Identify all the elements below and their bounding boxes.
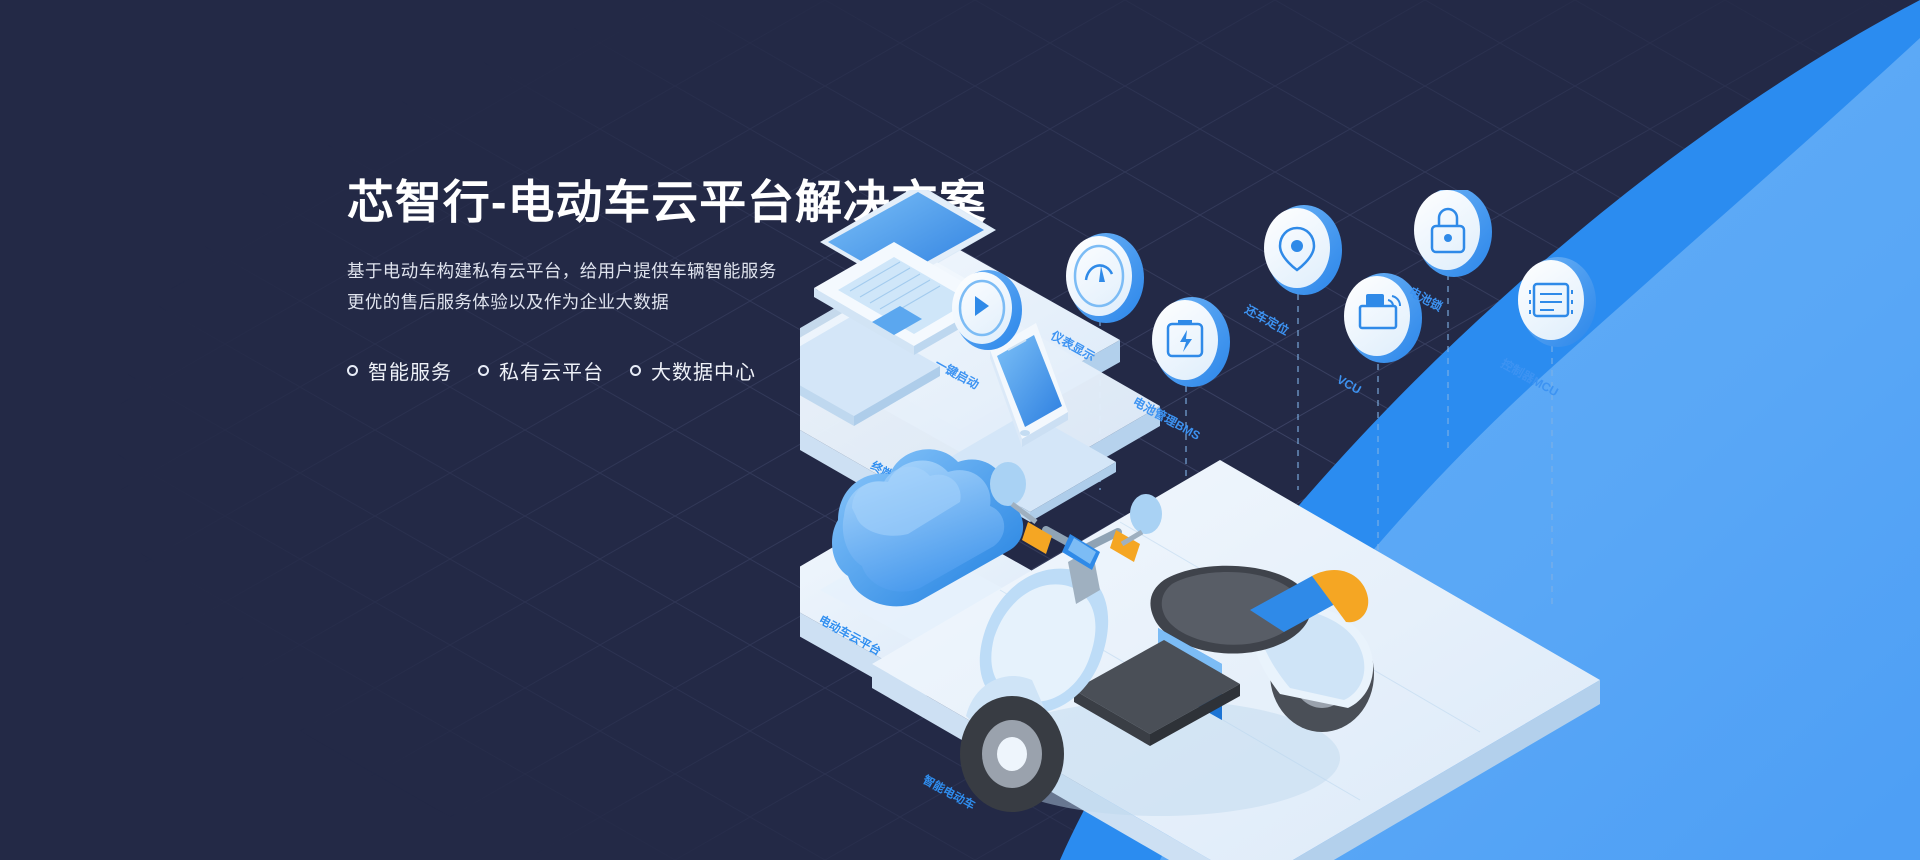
badge-battery-lock[interactable]: 电池锁 — [1407, 190, 1492, 314]
bullet-item-smart-service: 智能服务 — [347, 356, 452, 385]
circle-outline-icon — [347, 365, 358, 376]
circle-outline-icon — [630, 365, 641, 376]
bullet-label: 智能服务 — [368, 356, 452, 385]
bullet-label: 私有云平台 — [499, 356, 604, 385]
front-wheel — [960, 696, 1064, 812]
hero-banner: 芯智行-电动车云平台解决方案 基于电动车构建私有云平台，给用户提供车辆智能服务 … — [0, 0, 1920, 860]
badge-label-vcu: VCU — [1335, 372, 1364, 397]
bullet-label: 大数据中心 — [651, 356, 756, 385]
circle-outline-icon — [478, 365, 489, 376]
badge-label-return-locate: 还车定位 — [1242, 301, 1292, 338]
bullet-item-bigdata-center: 大数据中心 — [630, 356, 756, 385]
badge-return-locate[interactable]: 还车定位 — [1242, 205, 1342, 338]
bullet-item-private-cloud: 私有云平台 — [478, 356, 604, 385]
isometric-illustration: 终端设备 电动车云平台 — [800, 190, 1920, 860]
badge-controller-mcu[interactable]: 控制器MCU — [1499, 257, 1596, 399]
